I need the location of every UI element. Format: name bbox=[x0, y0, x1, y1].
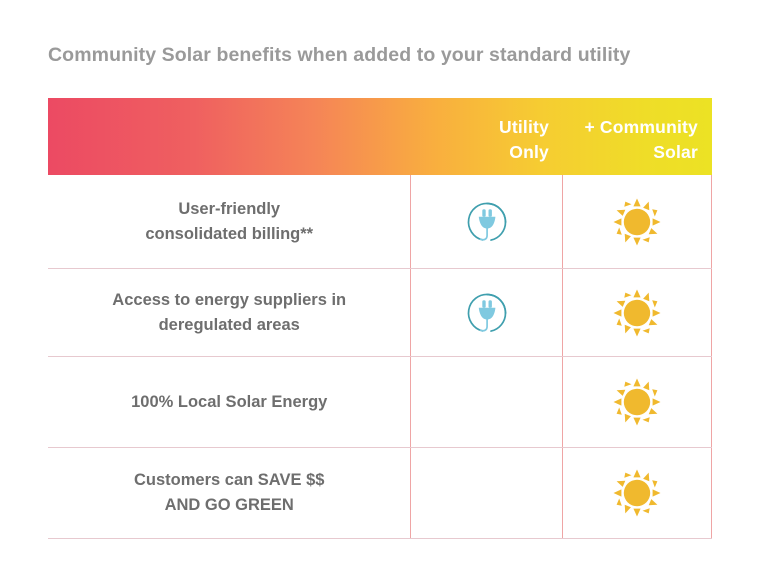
utility-only-line-2: Only bbox=[412, 140, 549, 165]
table-row: 100% Local Solar Energy bbox=[48, 357, 712, 448]
community-solar-cell bbox=[562, 448, 712, 538]
benefit-label-cell: Customers can SAVE $$ AND GO GREEN bbox=[48, 448, 410, 538]
sun-icon bbox=[611, 376, 663, 428]
benefit-label-line-2: AND GO GREEN bbox=[134, 493, 324, 518]
utility-only-cell bbox=[410, 269, 561, 356]
page-title: Community Solar benefits when added to y… bbox=[48, 42, 738, 68]
benefit-label-cell: User-friendly consolidated billing** bbox=[48, 175, 410, 268]
plug-icon bbox=[461, 196, 513, 248]
table-row: Customers can SAVE $$ AND GO GREEN bbox=[48, 448, 712, 539]
sun-icon bbox=[611, 287, 663, 339]
utility-only-cell bbox=[410, 448, 561, 538]
comparison-table: Utility Only + Community Solar User-frie… bbox=[48, 98, 712, 536]
sun-icon bbox=[611, 467, 663, 519]
benefit-label-line-1: Customers can SAVE $$ bbox=[134, 468, 324, 493]
utility-only-cell bbox=[410, 175, 561, 268]
plug-icon bbox=[461, 287, 513, 339]
community-solar-line-1: + Community bbox=[563, 115, 698, 140]
community-solar-cell bbox=[562, 357, 712, 447]
benefit-label-line-1: User-friendly bbox=[145, 197, 313, 222]
benefit-label-line-2: consolidated billing** bbox=[145, 222, 313, 247]
table-header-row: Utility Only + Community Solar bbox=[48, 98, 712, 175]
benefit-label-cell: 100% Local Solar Energy bbox=[48, 357, 410, 447]
benefit-label-line-2: deregulated areas bbox=[112, 313, 346, 338]
utility-only-line-1: Utility bbox=[412, 115, 549, 140]
community-solar-line-2: Solar bbox=[563, 140, 698, 165]
table-header-utility-only: Utility Only bbox=[412, 98, 563, 175]
community-solar-cell bbox=[562, 175, 712, 268]
sun-icon bbox=[611, 196, 663, 248]
table-row: User-friendly consolidated billing** bbox=[48, 175, 712, 269]
table-body: User-friendly consolidated billing** bbox=[48, 175, 712, 539]
table-row: Access to energy suppliers in deregulate… bbox=[48, 269, 712, 357]
table-header-community-solar: + Community Solar bbox=[563, 98, 712, 175]
benefit-label-cell: Access to energy suppliers in deregulate… bbox=[48, 269, 410, 356]
table-header-benefit-column bbox=[48, 98, 412, 175]
utility-only-cell bbox=[410, 357, 561, 447]
community-solar-cell bbox=[562, 269, 712, 356]
benefit-label-line-1: Access to energy suppliers in bbox=[112, 288, 346, 313]
infographic-page: Community Solar benefits when added to y… bbox=[0, 0, 768, 576]
benefit-label-line-1: 100% Local Solar Energy bbox=[131, 390, 327, 415]
